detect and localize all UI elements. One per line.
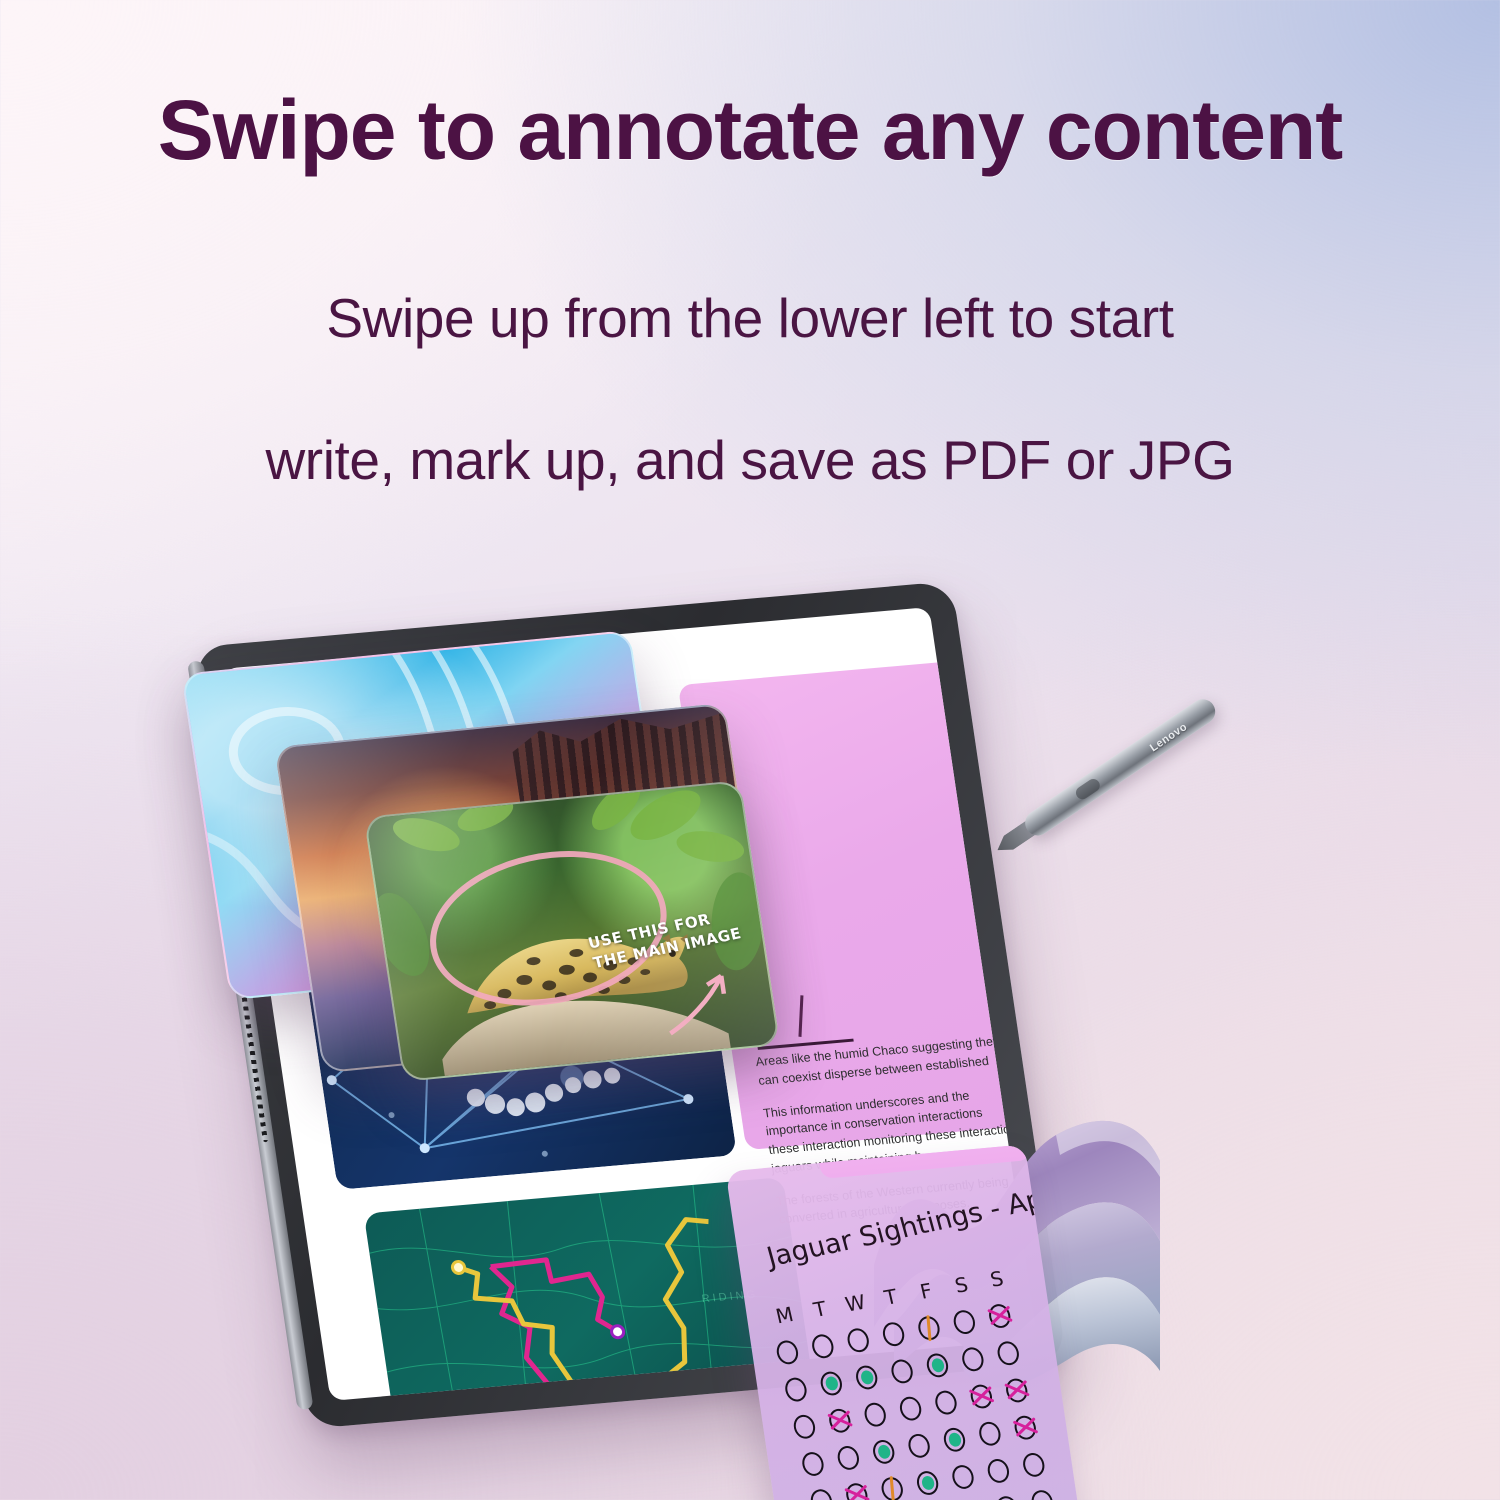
day-header: S — [941, 1270, 982, 1300]
stylus-brand-label: Lenovo — [1148, 721, 1190, 755]
grid-cell-x[interactable] — [994, 1369, 1038, 1412]
circle-icon — [881, 1321, 907, 1348]
circle-icon — [960, 1346, 986, 1373]
subheading-1: Swipe up from the lower left to start — [0, 286, 1500, 350]
circle-icon — [783, 1376, 809, 1403]
day-header: T — [800, 1294, 841, 1324]
circle-icon — [933, 1389, 959, 1416]
stylus-body: Lenovo — [1020, 694, 1220, 840]
stylus-pen[interactable]: Lenovo — [988, 690, 1223, 864]
day-header: S — [976, 1264, 1017, 1294]
circle-icon — [950, 1463, 976, 1490]
circle-icon — [985, 1457, 1011, 1484]
circle-icon — [1029, 1489, 1055, 1500]
day-header: M — [764, 1300, 805, 1330]
circle-icon — [774, 1339, 800, 1366]
circle-icon — [835, 1444, 861, 1471]
grid-cell-ring[interactable] — [1011, 1443, 1055, 1486]
circle-icon — [1021, 1451, 1047, 1478]
circle-icon — [808, 1488, 834, 1500]
circle-icon — [791, 1413, 817, 1440]
circle-icon — [994, 1495, 1020, 1500]
circle-icon — [995, 1340, 1021, 1367]
circle-icon — [889, 1358, 915, 1385]
circle-icon — [845, 1327, 871, 1354]
circle-icon — [800, 1450, 826, 1477]
grid-cell-x[interactable] — [1003, 1406, 1047, 1449]
day-header: W — [835, 1288, 876, 1318]
marketing-copy: Swipe to annotate any content Swipe up f… — [0, 0, 1500, 492]
day-header: F — [906, 1276, 947, 1306]
circle-icon — [898, 1395, 924, 1422]
circle-icon — [810, 1333, 836, 1360]
sightings-grid[interactable]: M T W T F S S — [758, 1264, 1068, 1500]
circle-icon — [977, 1420, 1003, 1447]
grid-cells[interactable] — [765, 1293, 1070, 1500]
page-headline: Swipe to annotate any content — [0, 86, 1500, 174]
subheading-2: write, mark up, and save as PDF or JPG — [0, 428, 1500, 492]
day-header: T — [870, 1282, 911, 1312]
circle-icon — [862, 1401, 888, 1428]
product-scene: of protected Jaguar — [0, 555, 1500, 1500]
circle-icon — [906, 1432, 932, 1459]
notes-title: Jaguar Sightings - April — [764, 1178, 1073, 1273]
grid-cell-ring[interactable] — [986, 1332, 1030, 1375]
circle-icon — [951, 1309, 977, 1336]
grid-cell-x[interactable] — [977, 1295, 1021, 1338]
glass-card-jaguar[interactable]: USE THIS FOR THE MAIN IMAGE — [364, 780, 781, 1082]
